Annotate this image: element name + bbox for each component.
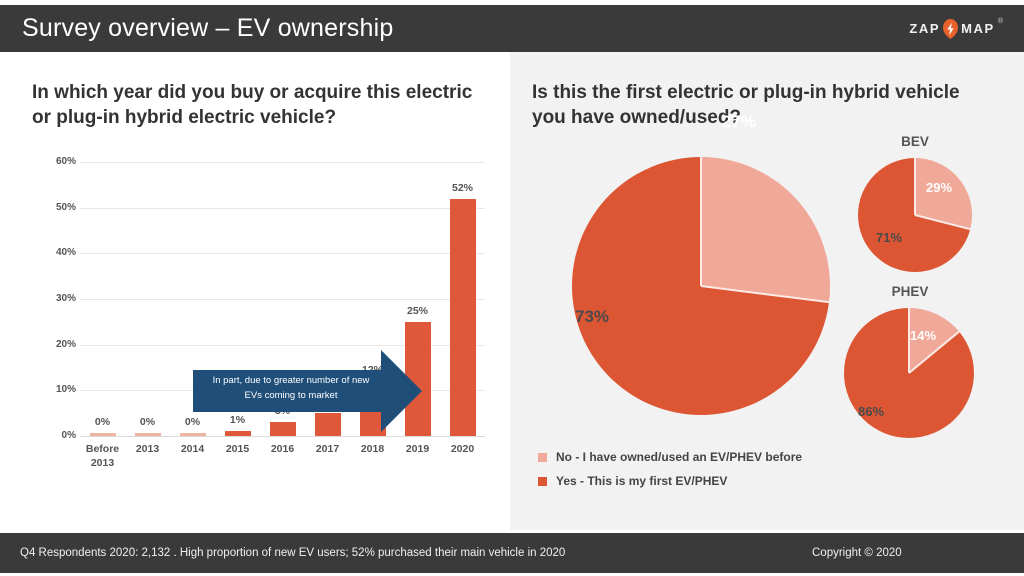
legend-item[interactable]: No - I have owned/used an EV/PHEV before [538, 450, 802, 464]
bar-chart: 60%50%40%30%20%10%0% 0%Before20130%20130… [0, 162, 500, 532]
left-panel: In which year did you buy or acquire thi… [0, 52, 510, 530]
logo-word-map: MAP [961, 21, 995, 36]
bev-pie-caption: BEV [882, 134, 948, 149]
bev-pie [858, 158, 972, 272]
bar-value-label: 0% [95, 416, 110, 428]
footer-bar: Q4 Respondents 2020: 2,132 . High propor… [0, 533, 1024, 573]
all-respondents-pie [572, 157, 830, 415]
y-axis-tick-label: 0% [40, 430, 76, 441]
x-axis-tick-label: 2013 [124, 442, 172, 456]
pie-slice-separator [914, 158, 916, 215]
x-axis-tick-label: 2014 [169, 442, 217, 456]
left-chart-title: In which year did you buy or acquire thi… [32, 80, 482, 130]
phev-pie-label-no: 14% [910, 328, 936, 343]
pie-slice-separator [915, 214, 971, 230]
legend-label: No - I have owned/used an EV/PHEV before [556, 450, 802, 464]
bar-column[interactable]: 0% [80, 162, 125, 436]
x-axis-tick-label: Before2013 [79, 442, 127, 470]
x-axis-tick-label: 2016 [259, 442, 307, 456]
phev-pie-caption: PHEV [872, 284, 948, 299]
zapmap-logo: ZAP MAP ® [909, 19, 1002, 39]
bar-column[interactable]: 52% [440, 162, 485, 436]
bar-chart-baseline [80, 436, 485, 437]
y-axis-tick-label: 30% [40, 293, 76, 304]
legend-label: Yes - This is my first EV/PHEV [556, 474, 727, 488]
y-axis-tick-label: 10% [40, 384, 76, 395]
phev-pie-label-yes: 86% [858, 404, 884, 419]
bar[interactable] [90, 433, 116, 436]
bar[interactable] [450, 199, 476, 436]
pie-slice-separator [701, 285, 829, 303]
x-axis-tick-label: 2015 [214, 442, 262, 456]
lightning-bolt-icon [942, 19, 959, 39]
bar[interactable] [135, 433, 161, 436]
x-axis-tick-label: 2017 [304, 442, 352, 456]
pie-legend: No - I have owned/used an EV/PHEV before… [538, 450, 802, 498]
legend-item[interactable]: Yes - This is my first EV/PHEV [538, 474, 802, 488]
y-axis-tick-label: 60% [40, 156, 76, 167]
footer-copyright: Copyright © 2020 [812, 547, 902, 559]
bev-pie-label-no: 29% [926, 180, 952, 195]
bar-column[interactable]: 0% [125, 162, 170, 436]
annotation-arrow-text: In part, due to greater number of new EV… [203, 374, 379, 403]
legend-swatch-icon [538, 453, 547, 462]
all-respondents-pie-label-no: 27% [722, 112, 756, 132]
logo-word-zap: ZAP [909, 21, 940, 36]
page-title: Survey overview – EV ownership [22, 14, 393, 43]
bev-pie-label-yes: 71% [876, 230, 902, 245]
bar-value-label: 0% [140, 416, 155, 428]
header-bar: Survey overview – EV ownership ZAP MAP ® [0, 5, 1024, 52]
pie-slice-separator [700, 157, 702, 286]
legend-swatch-icon [538, 477, 547, 486]
all-respondents-pie-label-yes: 73% [575, 307, 609, 327]
slide-root: Survey overview – EV ownership ZAP MAP ®… [0, 0, 1024, 576]
x-axis-tick-label: 2018 [349, 442, 397, 456]
bar-value-label: 25% [407, 305, 428, 317]
x-axis-tick-label: 2020 [439, 442, 487, 456]
y-axis-tick-label: 20% [40, 339, 76, 350]
x-axis-tick-label: 2019 [394, 442, 442, 456]
registered-trademark-icon: ® [998, 18, 1003, 25]
annotation-arrow: In part, due to greater number of new EV… [193, 348, 423, 434]
footer-note: Q4 Respondents 2020: 2,132 . High propor… [20, 547, 565, 559]
y-axis-tick-label: 50% [40, 202, 76, 213]
bar-value-label: 52% [452, 182, 473, 194]
y-axis-tick-label: 40% [40, 247, 76, 258]
